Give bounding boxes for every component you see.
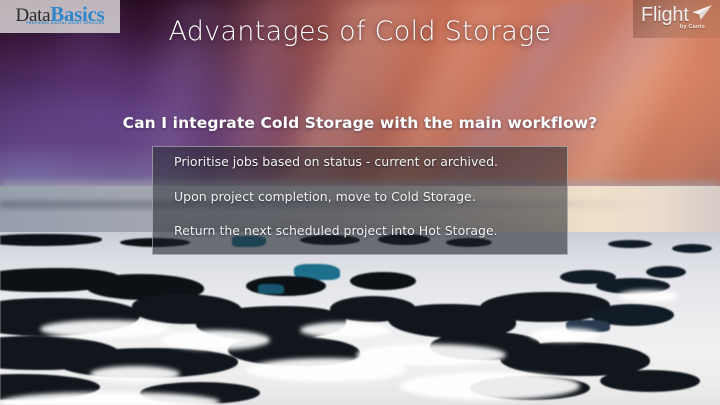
page-title: Advantages of Cold Storage: [0, 16, 720, 47]
list-item: Upon project completion, move to Cold St…: [174, 191, 567, 204]
slide-subtitle: Can I integrate Cold Storage with the ma…: [0, 114, 720, 132]
list-item: Return the next scheduled project into H…: [174, 225, 567, 238]
ice-shadow-left: [0, 232, 720, 405]
bullet-list-box: Prioritise jobs based on status - curren…: [152, 146, 568, 255]
slide-canvas: DataBasics PROVIDING DIGITAL ASSET SERVI…: [0, 0, 720, 405]
list-item: Prioritise jobs based on status - curren…: [174, 156, 567, 169]
